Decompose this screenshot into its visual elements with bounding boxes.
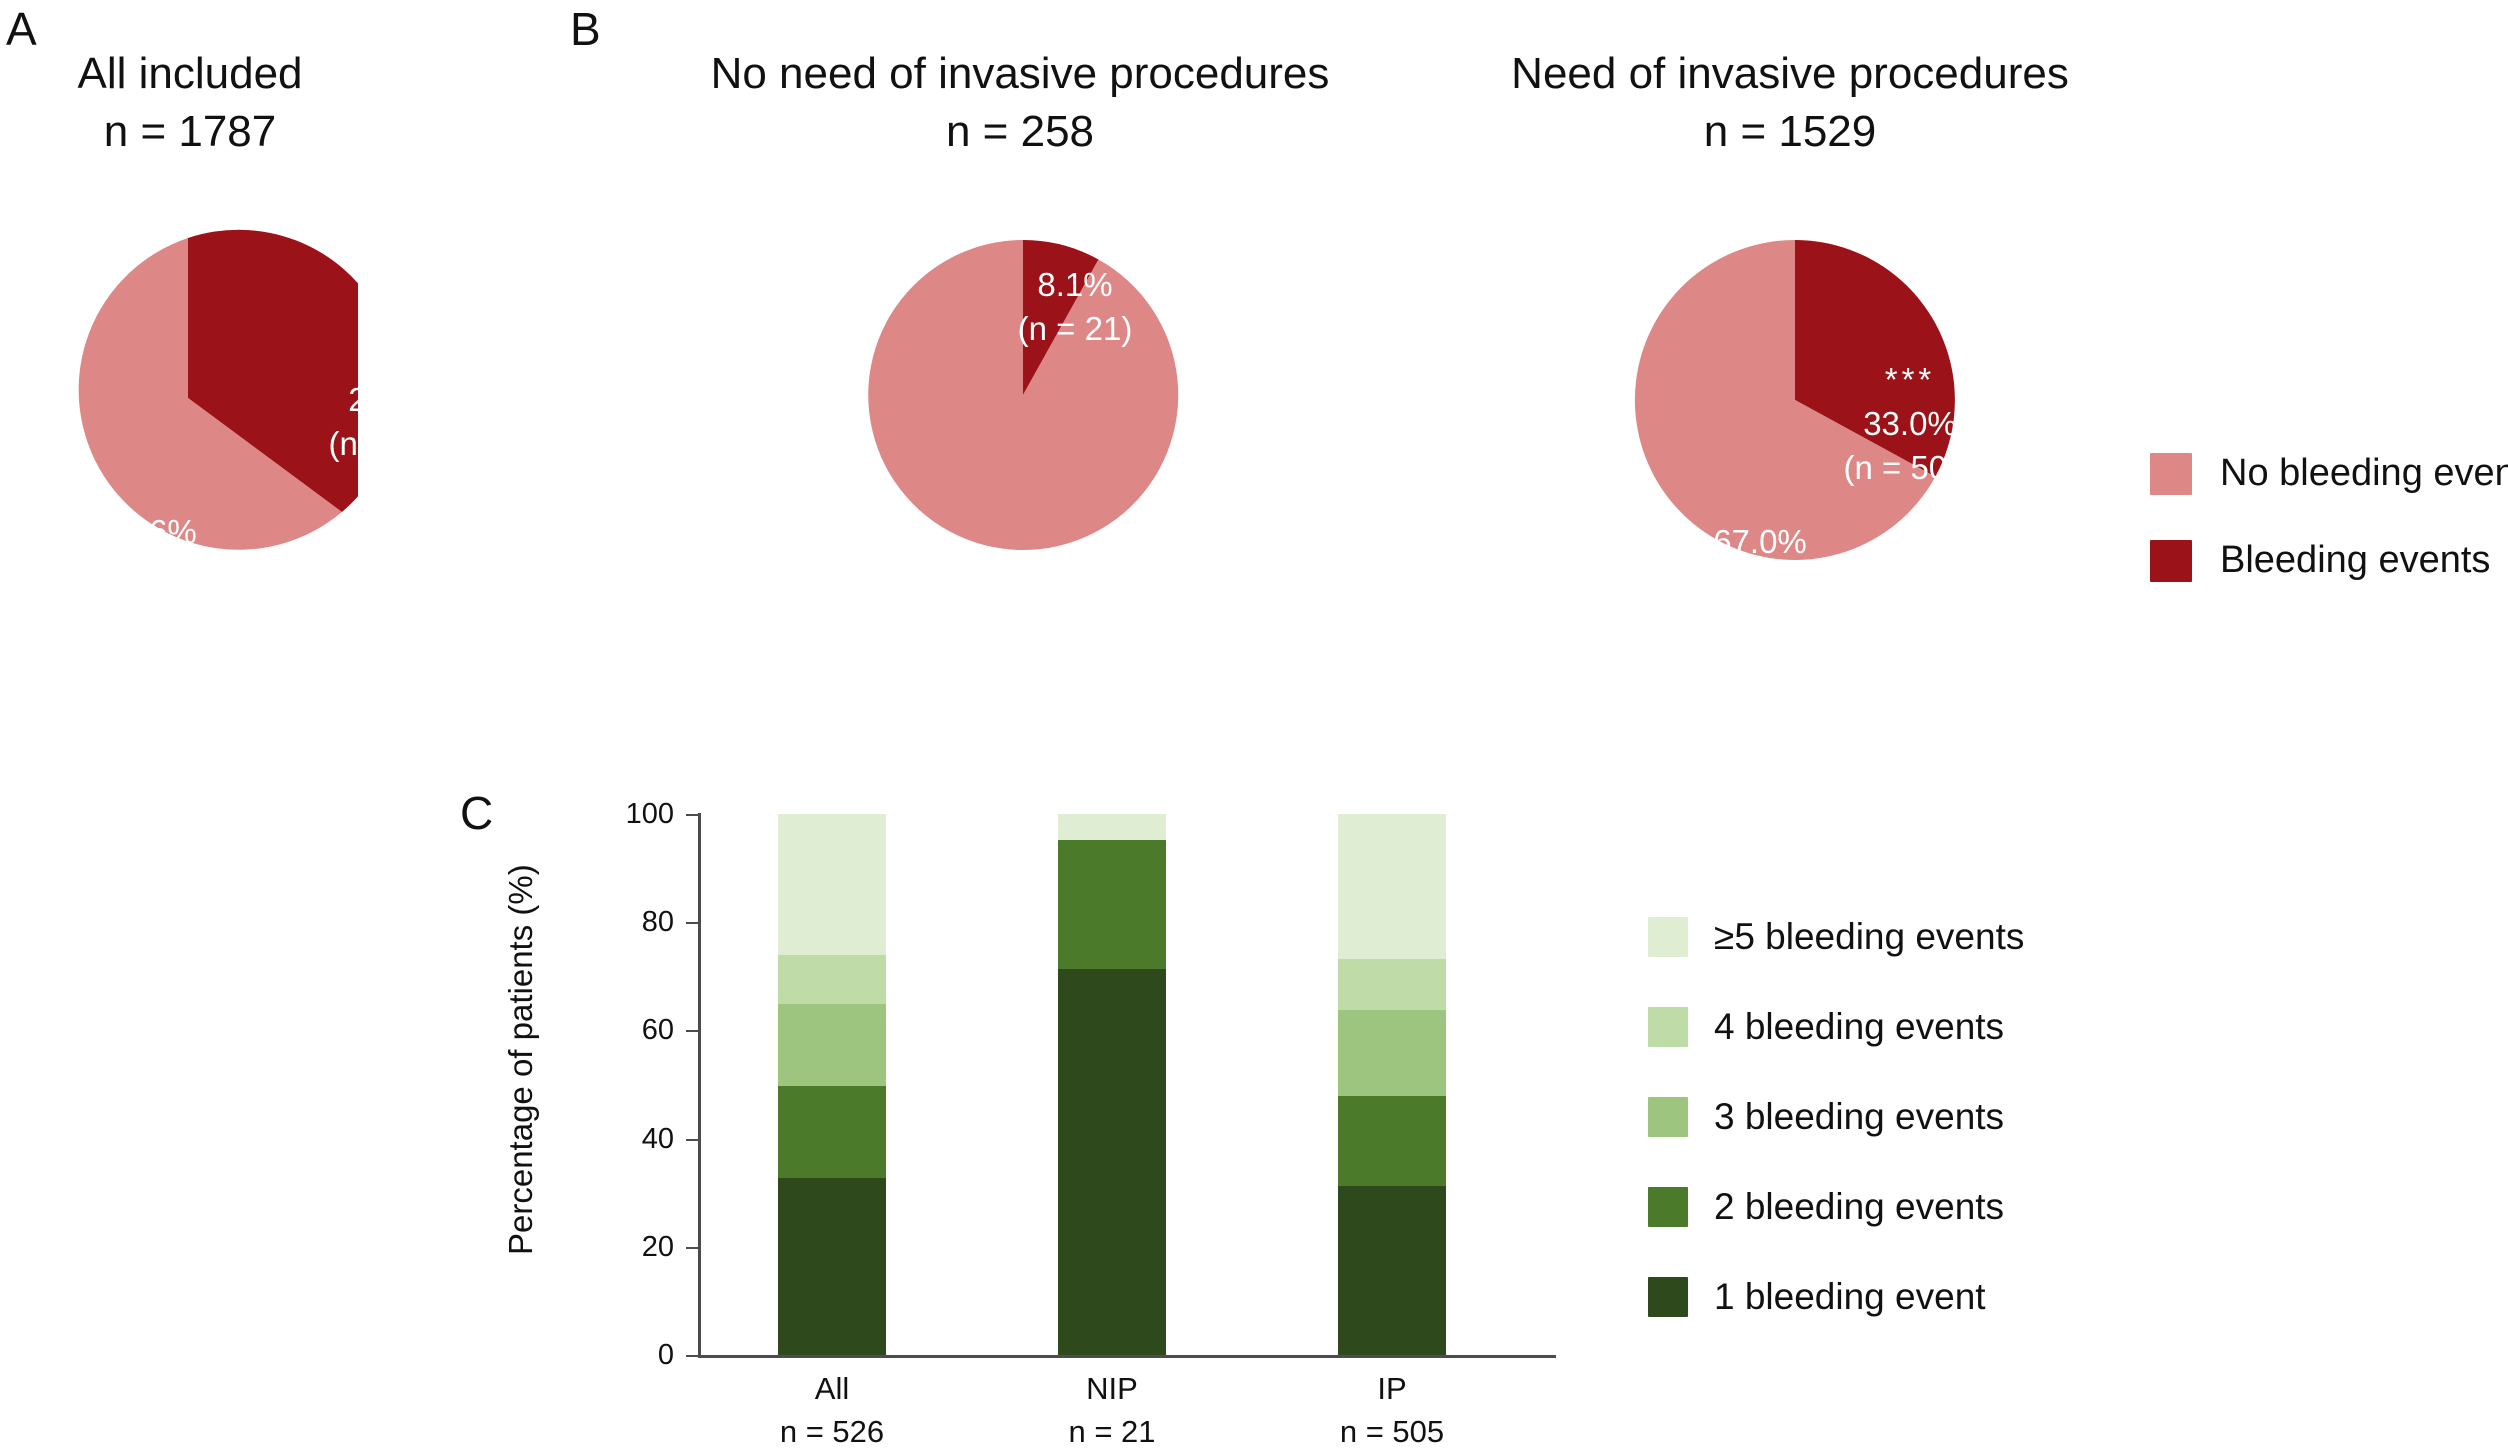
bar-legend-swatch-4-events <box>1648 1007 1688 1047</box>
bar-legend-item-1-event[interactable]: 1 bleeding event <box>1648 1276 2024 1318</box>
bar-legend-label-5plus-events: ≥5 bleeding events <box>1714 916 2024 958</box>
xcat-nip: NIP n = 21 <box>1022 1368 1202 1454</box>
panel-b-pie1-n: n = 258 <box>640 103 1400 161</box>
pie-b2-stars: *** <box>1810 358 2010 402</box>
bar-ip-seg-5plus-events <box>1338 814 1446 959</box>
pie-b1-count-bleeding: (n = 21) <box>1018 310 1133 347</box>
ytick-mark-20 <box>686 1247 698 1249</box>
pie-legend-swatch-no-bleeding <box>2150 453 2192 495</box>
pie-b1-label-bleeding: 8.1% (n = 21) <box>985 263 1165 351</box>
ytick-mark-60 <box>686 1030 698 1032</box>
ytick-label-60: 60 <box>604 1014 674 1047</box>
pie-b2-percent-no-bleeding: 67.0% <box>1713 523 1807 560</box>
ytick-mark-80 <box>686 922 698 924</box>
panel-b-pie1-title: No need of invasive procedures <box>711 49 1330 98</box>
bar-legend-swatch-5plus-events <box>1648 917 1688 957</box>
bar-all-seg-3-events <box>778 1004 886 1086</box>
xcat-ip-label: IP <box>1377 1371 1406 1406</box>
pie-b2-label-no-bleeding: 67.0% (n = 1024) <box>1645 520 1875 608</box>
pie-b2-label-bleeding: *** 33.0% (n = 505) <box>1810 358 2010 490</box>
bar-all-seg-4-events <box>778 955 886 1004</box>
bar-legend-label-2-events: 2 bleeding events <box>1714 1186 2004 1228</box>
panel-b-pie2-n: n = 1529 <box>1450 103 2130 161</box>
xcat-all-label: All <box>815 1371 849 1406</box>
pie-b1-count-no-bleeding: (n = 237) <box>924 652 1057 689</box>
panel-b-pie2-title-block: Need of invasive procedures n = 1529 <box>1450 45 2130 161</box>
ytick-mark-100 <box>686 814 698 816</box>
bar-legend-swatch-1-event <box>1648 1277 1688 1317</box>
pie-b1-percent-no-bleeding: 91.9% <box>943 608 1037 645</box>
pie-legend-swatch-bleeding <box>2150 540 2192 582</box>
pie-legend-item-bleeding[interactable]: Bleeding events <box>2150 539 2508 582</box>
bar-chart-y-axis <box>698 813 701 1358</box>
pie-b2-count-no-bleeding: (n = 1024) <box>1684 567 1835 604</box>
pie-a-percent-no-bleeding: 70.6% <box>103 513 197 550</box>
panel-a-title-block: All included n = 1787 <box>20 45 360 161</box>
pie-a-count-no-bleeding: (n = 1261) <box>74 557 225 594</box>
bar-all-seg-2-events <box>778 1086 886 1178</box>
bar-nip-seg-5plus-events <box>1058 814 1166 840</box>
bar-ip[interactable] <box>1338 814 1446 1355</box>
ytick-mark-40 <box>686 1139 698 1141</box>
panel-a-title: All included <box>77 49 302 98</box>
bar-ip-seg-4-events <box>1338 959 1446 1010</box>
bar-legend-label-1-event: 1 bleeding event <box>1714 1276 1986 1318</box>
pie-a-label-no-bleeding: 70.6% (n = 1261) <box>40 510 260 598</box>
bar-legend-label-4-events: 4 bleeding events <box>1714 1006 2004 1048</box>
bar-nip-seg-2-events <box>1058 840 1166 969</box>
xcat-all: All n = 526 <box>742 1368 922 1454</box>
ytick-mark-0 <box>686 1355 698 1357</box>
bar-legend-item-3-events[interactable]: 3 bleeding events <box>1648 1096 2024 1138</box>
ytick-label-20: 20 <box>604 1231 674 1264</box>
xcat-all-n: n = 526 <box>742 1411 922 1454</box>
bar-chart-ylabel: Percentage of patients (%) <box>502 864 540 1255</box>
bar-all[interactable] <box>778 814 886 1355</box>
bar-legend-item-4-events[interactable]: 4 bleeding events <box>1648 1006 2024 1048</box>
ytick-label-0: 0 <box>604 1339 674 1372</box>
bar-legend-swatch-2-events <box>1648 1187 1688 1227</box>
ytick-label-40: 40 <box>604 1123 674 1156</box>
bar-legend-label-3-events: 3 bleeding events <box>1714 1096 2004 1138</box>
bar-ip-seg-2-events <box>1338 1096 1446 1186</box>
bar-chart-legend: ≥5 bleeding events 4 bleeding events 3 b… <box>1648 916 2024 1366</box>
bar-all-seg-1-event <box>778 1178 886 1355</box>
bar-chart-x-axis <box>698 1355 1556 1358</box>
pie-legend: No bleeding events Bleeding events <box>2150 452 2508 626</box>
panel-b-pie2-title: Need of invasive procedures <box>1511 49 2069 98</box>
xcat-nip-n: n = 21 <box>1022 1411 1202 1454</box>
pie-legend-label-no-bleeding: No bleeding events <box>2220 452 2508 495</box>
pie-b2-count-bleeding: (n = 505) <box>1844 449 1977 486</box>
xcat-ip-n: n = 505 <box>1302 1411 1482 1454</box>
xcat-nip-label: NIP <box>1086 1371 1138 1406</box>
bar-ip-seg-1-event <box>1338 1186 1446 1355</box>
figure-root: A All included n = 1787 29.4% (n = 526) … <box>0 0 2508 1452</box>
pie-b1-percent-bleeding: 8.1% <box>1037 266 1112 303</box>
bar-nip[interactable] <box>1058 814 1166 1355</box>
pie-a-label-bleeding: 29.4% (n = 526) <box>300 378 490 466</box>
bar-legend-swatch-3-events <box>1648 1097 1688 1137</box>
pie-a-count-bleeding: (n = 526) <box>329 425 462 462</box>
bar-legend-item-2-events[interactable]: 2 bleeding events <box>1648 1186 2024 1228</box>
greater-equal-icon: ≥ <box>1714 916 1734 957</box>
ytick-label-80: 80 <box>604 906 674 939</box>
panel-letter-b: B <box>570 6 601 52</box>
panel-a-n: n = 1787 <box>20 103 360 161</box>
pie-b1-label-no-bleeding: 91.9% (n = 237) <box>880 605 1100 693</box>
bar-ip-seg-3-events <box>1338 1010 1446 1096</box>
bar-legend-label-5plus-text: 5 bleeding events <box>1734 916 2024 957</box>
bar-legend-item-5plus-events[interactable]: ≥5 bleeding events <box>1648 916 2024 958</box>
bar-all-seg-5plus-events <box>778 814 886 955</box>
pie-legend-item-no-bleeding[interactable]: No bleeding events <box>2150 452 2508 495</box>
pie-legend-label-bleeding: Bleeding events <box>2220 539 2490 582</box>
pie-a-percent-bleeding: 29.4% <box>348 381 442 418</box>
bar-nip-seg-1-event <box>1058 969 1166 1355</box>
pie-b2-percent-bleeding: 33.0% <box>1863 405 1957 442</box>
panel-letter-c: C <box>460 790 493 836</box>
ytick-label-100: 100 <box>604 798 674 831</box>
xcat-ip: IP n = 505 <box>1302 1368 1482 1454</box>
panel-b-pie1-title-block: No need of invasive procedures n = 258 <box>640 45 1400 161</box>
